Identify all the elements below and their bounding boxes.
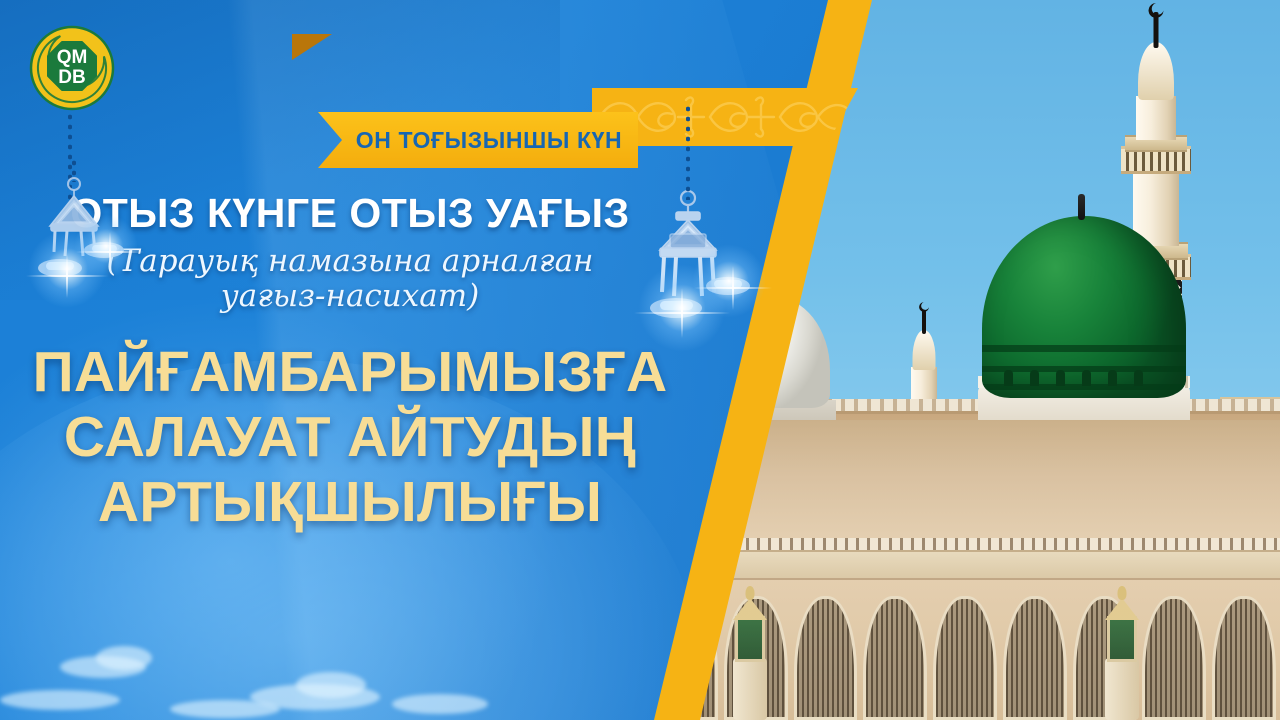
lantern-icon: [630, 176, 760, 341]
svg-text:DB: DB: [58, 67, 85, 88]
poster-canvas: ОН ТОҒЫЗЫНШЫ КҮН ОТЫЗ КҮНГЕ ОТЫЗ УАҒЫЗ (…: [0, 0, 1280, 720]
crescent-moon-icon: [196, 556, 382, 720]
mosque-lamp-post-left: [720, 580, 780, 720]
green-dome-finial: [1078, 194, 1085, 220]
hanging-lantern-right: [630, 176, 760, 341]
mosque-arcade-band: [660, 550, 1280, 580]
lecture-title: ПАЙҒАМБАРЫМЫЗҒА САЛАУАТ АЙТУДЫҢ АРТЫҚШЫЛ…: [0, 340, 700, 535]
day-ribbon: ОН ТОҒЫЗЫНШЫ КҮН: [318, 112, 638, 168]
lantern-cord: [72, 158, 76, 182]
lecture-title-line1: ПАЙҒАМБАРЫМЫЗҒА: [0, 340, 700, 405]
hanging-lantern-left: [22, 168, 142, 308]
ribbon-label: ОН ТОҒЫЗЫНШЫ КҮН: [318, 112, 638, 168]
lecture-title-line2: САЛАУАТ АЙТУДЫҢ: [0, 405, 700, 470]
mosque-lamp-post-right: [1092, 580, 1152, 720]
lantern-icon: [22, 168, 142, 308]
svg-text:QM: QM: [57, 47, 88, 68]
qmdb-emblem-icon[interactable]: QM DB: [26, 22, 118, 114]
lecture-title-line3: АРТЫҚШЫЛЫҒЫ: [0, 470, 700, 535]
lantern-cord: [686, 104, 690, 200]
